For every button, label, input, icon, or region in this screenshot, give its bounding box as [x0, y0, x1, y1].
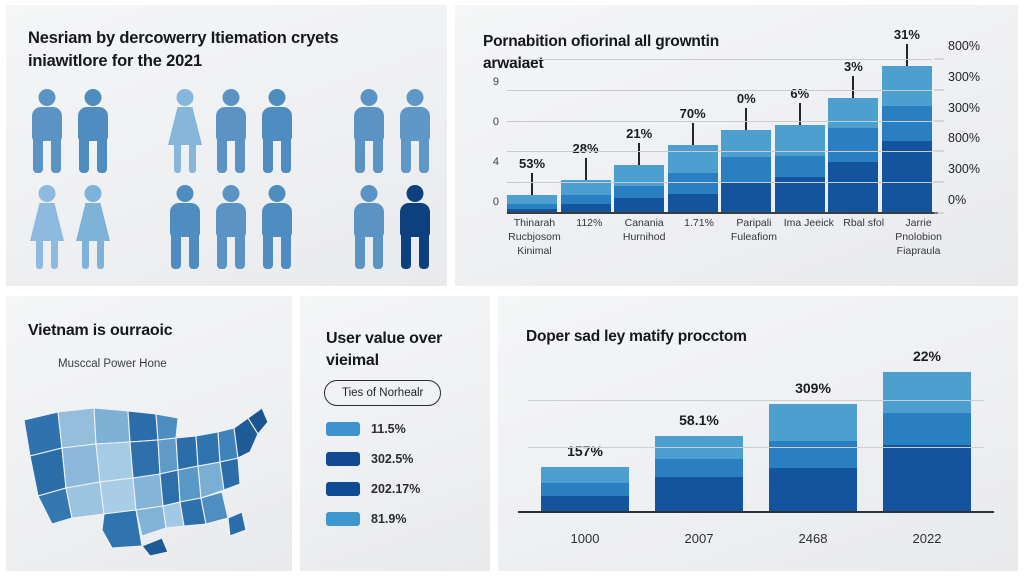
trend-bar-segment-mid	[655, 459, 743, 477]
growth-category-label: Rbal sfol	[836, 216, 891, 280]
growth-y-right-tick: 300%	[948, 162, 980, 176]
person-male-icon	[346, 183, 392, 271]
trend-value-label: 58.1%	[679, 412, 719, 428]
person-male-icon	[24, 87, 70, 175]
person-male-icon	[392, 183, 438, 271]
growth-label-stem	[585, 158, 587, 180]
trend-bar-segment-light	[541, 467, 629, 484]
person-male-icon	[392, 87, 438, 175]
growth-category-label: 1.71%	[672, 216, 727, 280]
growth-bar-segment-light	[668, 145, 718, 172]
pictogram-row	[24, 83, 434, 175]
legend-item-label: 302.5%	[371, 452, 413, 466]
map-subtitle: Musccal Power Hone	[58, 358, 278, 370]
growth-bar[interactable]: 6%	[775, 60, 825, 212]
trend-category-label: 1000	[541, 531, 629, 555]
growth-value-label: 21%	[626, 126, 652, 141]
legend-item-label: 11.5%	[371, 422, 406, 436]
trend-category-label: 2468	[769, 531, 857, 555]
trend-category-label: 2022	[883, 531, 971, 555]
growth-bar-segment-light	[828, 98, 878, 128]
legend-item-list: 11.5%302.5%202.17%81.9%	[326, 422, 476, 542]
pictogram-title: Nesriam by dercowerry Itiemation cryets …	[28, 27, 408, 73]
legend-panel: User value over vieimal Ties of Norhealr…	[300, 296, 490, 571]
growth-gridline	[507, 151, 932, 152]
growth-bar-segment-dark	[668, 194, 718, 212]
growth-bar-group: 53%28%21%70%0%6%3%31%	[507, 60, 932, 212]
growth-gridline	[507, 59, 932, 60]
trend-bar-segment-dark	[655, 477, 743, 511]
growth-y-tickmark	[934, 213, 944, 214]
trend-value-label: 309%	[795, 380, 831, 396]
growth-label-stem	[906, 44, 908, 66]
growth-y-left-tick: 4	[493, 156, 499, 168]
growth-y-left-tick: 0	[493, 116, 499, 128]
growth-category-label: Jarrie Pnolobion Fiapraula	[891, 216, 946, 280]
growth-bar-segment-mid	[828, 128, 878, 161]
growth-bar-segment-light	[721, 130, 771, 157]
legend-color-swatch	[326, 452, 360, 466]
trend-value-label: 157%	[567, 443, 603, 459]
legend-item[interactable]: 11.5%	[326, 422, 476, 436]
growth-category-label: Paripali Fuleafiom	[727, 216, 782, 280]
growth-gridline	[507, 121, 932, 122]
growth-bar-segment-mid	[614, 186, 664, 198]
trend-chart-panel: Doper sad ley matify procctom 157%58.1%3…	[498, 296, 1018, 571]
person-male-icon	[208, 183, 254, 271]
trend-bar[interactable]: 309%	[769, 358, 857, 511]
growth-bar-segment-mid	[721, 157, 771, 181]
growth-bar-segment-mid	[882, 106, 932, 141]
legend-filter-pill[interactable]: Ties of Norhealr	[324, 380, 441, 406]
growth-value-label: 6%	[790, 86, 809, 101]
legend-item-label: 202.17%	[371, 482, 420, 496]
growth-bar-segment-light	[507, 195, 557, 204]
growth-label-stem	[745, 108, 747, 130]
legend-item[interactable]: 302.5%	[326, 452, 476, 466]
growth-chart-plot: 53%28%21%70%0%6%3%31% 0%300%800%300%300%…	[507, 60, 932, 214]
growth-bar-segment-dark	[828, 162, 878, 212]
growth-bar-segment-light	[882, 66, 932, 106]
growth-value-label: 70%	[680, 106, 706, 121]
growth-bar-segment-dark	[507, 209, 557, 212]
growth-label-stem	[799, 103, 801, 125]
growth-value-label: 31%	[894, 27, 920, 42]
trend-bar-segment-mid	[883, 413, 971, 445]
growth-label-stem	[852, 76, 854, 98]
person-female-icon	[162, 87, 208, 175]
person-male-icon	[162, 183, 208, 271]
growth-bar[interactable]: 0%	[721, 60, 771, 212]
person-female-icon	[24, 183, 70, 271]
trend-chart-plot: 157%58.1%309%22%	[528, 358, 984, 513]
growth-y-left-tick: 9	[493, 76, 499, 88]
growth-gridline	[507, 182, 932, 183]
person-male-icon	[346, 87, 392, 175]
growth-value-label: 53%	[519, 156, 545, 171]
growth-bar[interactable]: 28%	[561, 60, 611, 212]
growth-y-right-tick: 800%	[948, 39, 980, 53]
growth-y-tickmark	[934, 151, 944, 152]
growth-gridline	[507, 90, 932, 91]
trend-chart-title: Doper sad ley matify procctom	[526, 328, 747, 346]
growth-bar[interactable]: 3%	[828, 60, 878, 212]
growth-y-right-tick: 300%	[948, 101, 980, 115]
person-male-icon	[254, 183, 300, 271]
map-title: Vietnam is ourraoic	[28, 322, 278, 340]
growth-y-left-tick: 0	[493, 196, 499, 208]
person-male-icon	[70, 87, 116, 175]
trend-bar-segment-dark	[541, 496, 629, 511]
trend-bar-segment-mid	[769, 441, 857, 469]
map-panel: Vietnam is ourraoic Musccal Power Hone	[6, 296, 292, 571]
legend-color-swatch	[326, 422, 360, 436]
growth-y-tickmark	[934, 59, 944, 60]
trend-category-label: 2007	[655, 531, 743, 555]
growth-y-tickmark	[934, 89, 944, 90]
legend-color-swatch	[326, 482, 360, 496]
growth-category-label: Thinarah Rucbjosom Kinimal	[507, 216, 562, 280]
growth-category-label: 112%	[562, 216, 617, 280]
trend-bar[interactable]: 157%	[541, 358, 629, 511]
growth-y-tickmark	[934, 120, 944, 121]
growth-value-label: 28%	[573, 141, 599, 156]
pictogram-row	[24, 179, 434, 271]
growth-bar-segment-dark	[721, 182, 771, 212]
trend-bar-segment-dark	[769, 468, 857, 511]
growth-category-label: Ima Jeeick	[781, 216, 836, 280]
growth-y-right-tick: 0%	[948, 193, 966, 207]
trend-bar-segment-light	[769, 404, 857, 441]
trend-bar-segment-light	[883, 372, 971, 413]
pictogram-panel: Nesriam by dercowerry Itiemation cryets …	[6, 5, 447, 286]
trend-bar-group: 157%58.1%309%22%	[528, 358, 984, 511]
growth-bar-segment-mid	[561, 195, 611, 204]
growth-bar[interactable]: 70%	[668, 60, 718, 212]
growth-bar[interactable]: 53%	[507, 60, 557, 212]
growth-bar[interactable]: 31%	[882, 60, 932, 212]
growth-label-stem	[692, 123, 694, 145]
pictogram-figure-grid	[24, 83, 434, 273]
growth-bar[interactable]: 21%	[614, 60, 664, 212]
trend-gridline	[528, 447, 984, 448]
growth-category-labels: Thinarah Rucbjosom Kinimal112%Canania Hu…	[507, 216, 946, 280]
us-choropleth-map-icon	[16, 378, 282, 556]
growth-label-stem	[531, 173, 533, 195]
map-graphic	[16, 378, 282, 556]
growth-bar-segment-mid	[775, 156, 825, 177]
growth-value-label: 0%	[737, 91, 756, 106]
growth-value-label: 3%	[844, 59, 863, 74]
legend-title: User value over vieimal	[326, 328, 476, 371]
growth-bar-segment-dark	[561, 204, 611, 212]
growth-label-stem	[638, 143, 640, 165]
person-male-icon	[208, 87, 254, 175]
trend-category-labels: 1000200724682022	[528, 531, 984, 555]
trend-bar[interactable]: 22%	[883, 358, 971, 511]
infographic-canvas: Nesriam by dercowerry Itiemation cryets …	[0, 0, 1024, 576]
trend-bar-segment-dark	[883, 445, 971, 511]
trend-value-label: 22%	[913, 348, 941, 364]
trend-gridline	[528, 400, 984, 401]
growth-chart-panel: Pornabition ofiorinal all growntin arwal…	[455, 5, 1018, 286]
person-male-icon	[254, 87, 300, 175]
growth-y-right-tick: 800%	[948, 131, 980, 145]
trend-bar[interactable]: 58.1%	[655, 358, 743, 511]
growth-y-tickmark	[934, 182, 944, 183]
trend-bar-segment-mid	[541, 483, 629, 495]
growth-bar-segment-dark	[614, 198, 664, 212]
legend-item-label: 81.9%	[371, 512, 406, 526]
growth-x-axis-line	[507, 212, 938, 214]
legend-color-swatch	[326, 512, 360, 526]
legend-item[interactable]: 202.17%	[326, 482, 476, 496]
growth-category-label: Canania Hurnihod	[617, 216, 672, 280]
legend-item[interactable]: 81.9%	[326, 512, 476, 526]
person-female-icon	[70, 183, 116, 271]
growth-y-right-tick: 300%	[948, 70, 980, 84]
